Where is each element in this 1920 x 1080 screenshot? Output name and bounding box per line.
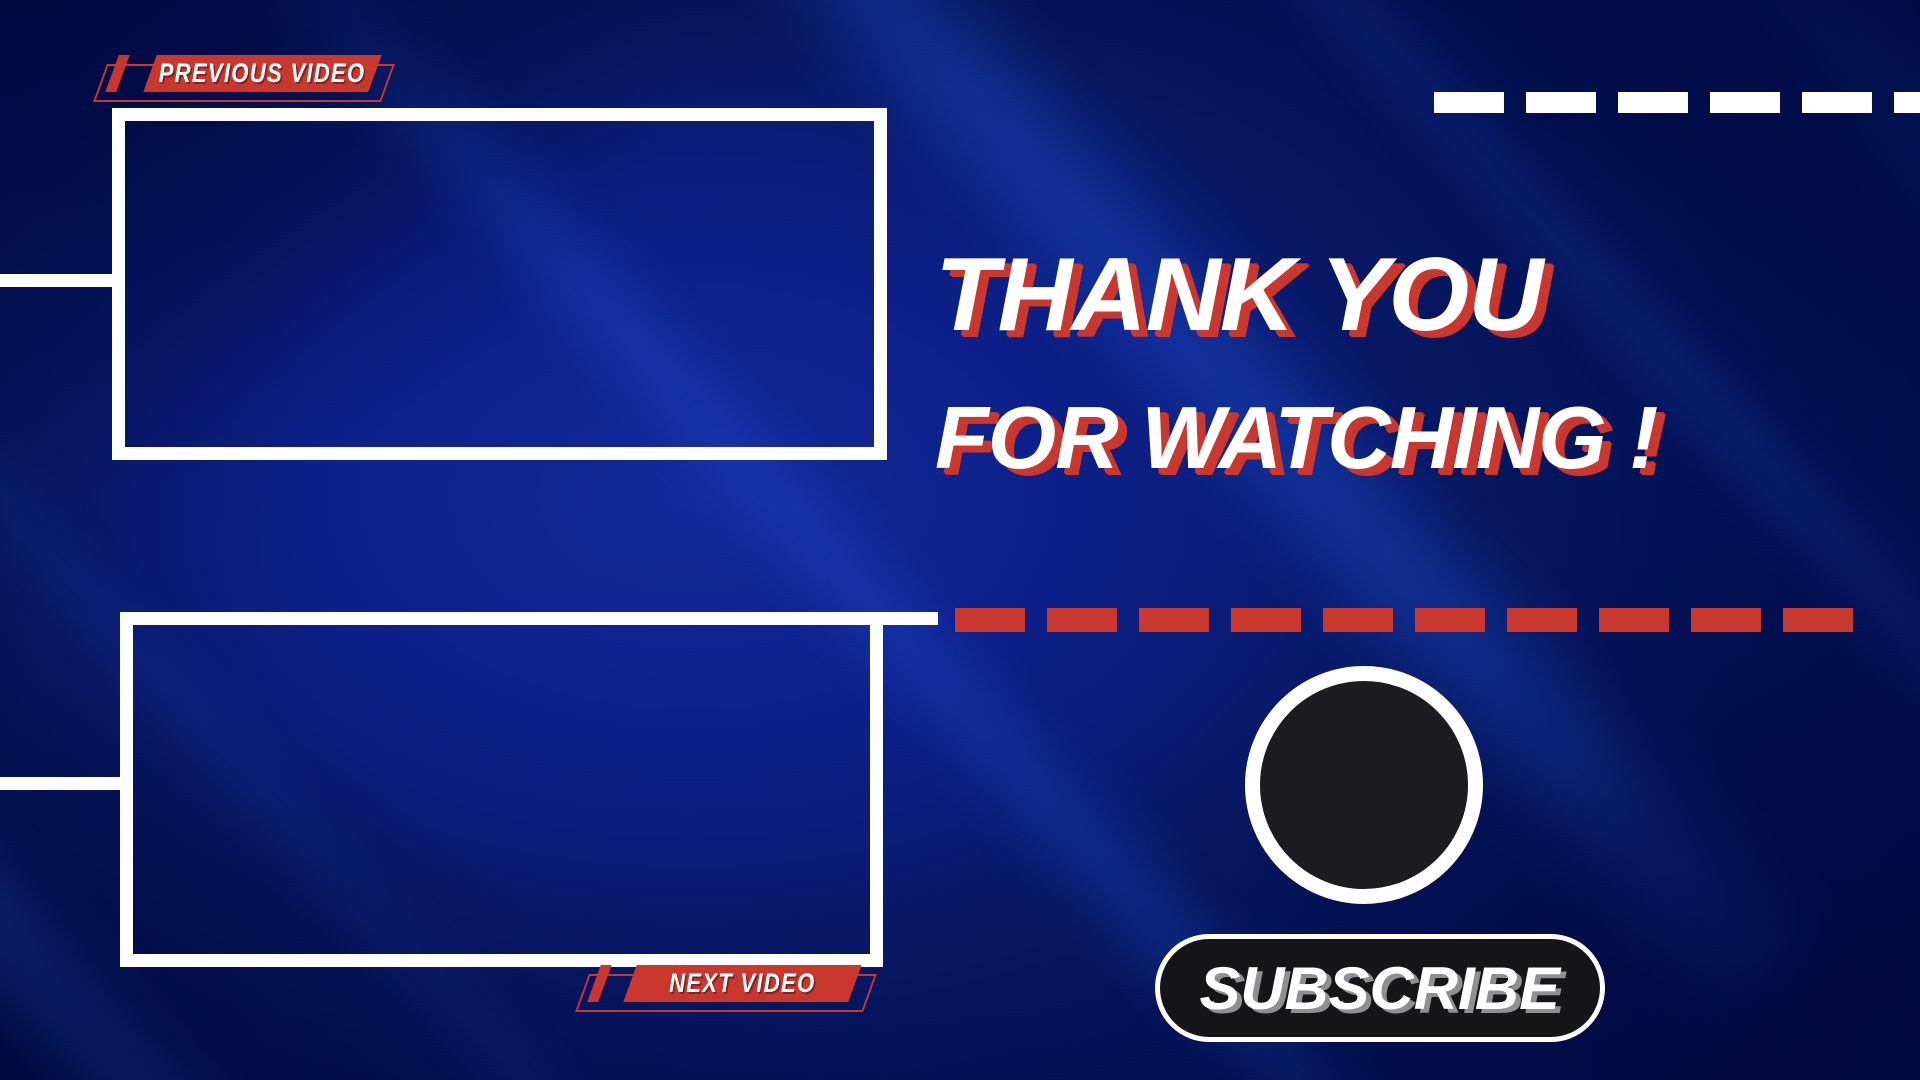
dash-segment [1231,608,1301,632]
next-video-thumbnail-slot[interactable] [120,612,883,967]
next-video-label: NEXT VIDEO [669,968,815,999]
subscribe-button[interactable]: SUBSCRIBE [1155,934,1605,1042]
dash-segment [1802,92,1872,113]
dash-segment [1894,92,1920,113]
dash-segment [1599,608,1669,632]
red-dashed-rule [955,608,1875,632]
headline-line-1: THANK YOU [935,240,1865,350]
endscreen-canvas: PREVIOUS VIDEO NEXT VIDEO THANK YOU FOR … [0,0,1920,1080]
next-video-frame-stub-left [0,777,120,790]
dash-segment [1507,608,1577,632]
channel-avatar[interactable] [1245,666,1483,904]
previous-video-label: PREVIOUS VIDEO [159,58,366,89]
headline-line-2: FOR WATCHING ! [935,390,1865,486]
dash-segment [1139,608,1209,632]
dash-segment [955,608,1025,632]
previous-video-frame-stub [0,274,112,287]
dash-segment [1618,92,1688,113]
headline-block: THANK YOU FOR WATCHING ! [935,240,1865,486]
previous-video-thumbnail-slot[interactable] [112,108,887,460]
dash-segment [1047,608,1117,632]
dash-segment [1323,608,1393,632]
dash-segment [1691,608,1761,632]
dash-segment [1415,608,1485,632]
dash-segment [1434,92,1504,113]
white-dashed-rule [1434,92,1920,113]
subscribe-label: SUBSCRIBE [1200,954,1560,1023]
previous-video-ribbon[interactable]: PREVIOUS VIDEO [143,55,381,92]
dash-segment [1783,608,1853,632]
next-video-ribbon[interactable]: NEXT VIDEO [623,965,861,1002]
dash-segment [1710,92,1780,113]
dash-segment [1526,92,1596,113]
